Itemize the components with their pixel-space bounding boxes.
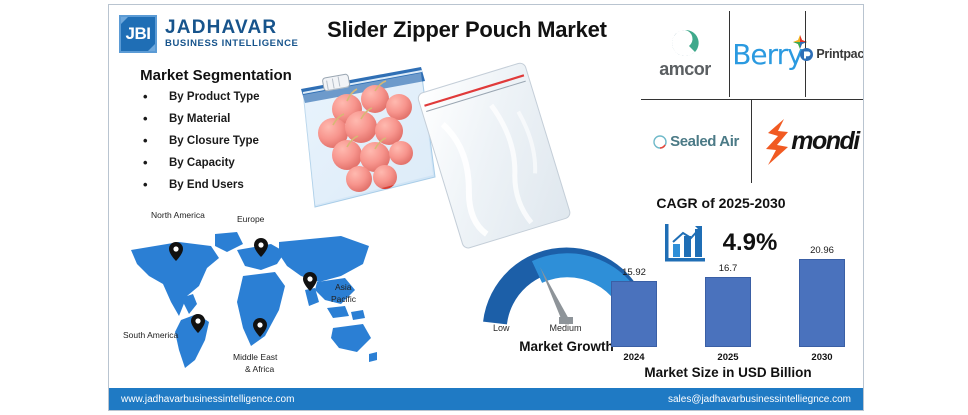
- map-pin-middle-east-africa-icon: [253, 318, 267, 337]
- bar-rect: [611, 281, 657, 347]
- printpack-label: Printpack: [816, 47, 864, 61]
- logo-sealed-air: Sealed Air: [641, 99, 751, 183]
- page-title: Slider Zipper Pouch Market: [307, 17, 627, 43]
- gauge-label-medium: Medium: [549, 323, 581, 333]
- gauge-label-low: Low: [493, 323, 510, 333]
- list-item: By Closure Type: [143, 135, 311, 147]
- map-label-middle-east-africa-line1: Middle East: [233, 352, 277, 362]
- jbi-logo-text: JBI: [126, 24, 151, 44]
- bar-column-2030: 20.96 2030: [799, 245, 845, 363]
- bar-rect: [799, 259, 845, 347]
- bar-value-label: 16.7: [705, 263, 751, 274]
- bar-category-label: 2024: [611, 352, 657, 363]
- bar-value-label: 20.96: [799, 245, 845, 256]
- list-item: By Capacity: [143, 157, 311, 169]
- map-label-europe: Europe: [237, 214, 264, 224]
- map-pin-asia-pacific-icon: [303, 272, 317, 291]
- brand-logo: JBI JADHAVAR BUSINESS INTELLIGENCE: [119, 15, 298, 53]
- map-pin-north-america-icon: [169, 242, 183, 261]
- bar-category-label: 2025: [705, 352, 751, 363]
- jbi-logo-mark: JBI: [119, 15, 157, 53]
- mondi-label: mondi: [791, 127, 859, 156]
- segmentation-title: Market Segmentation: [121, 67, 311, 84]
- segmentation-list: By Product Type By Material By Closure T…: [121, 91, 311, 191]
- market-segmentation-block: Market Segmentation By Product Type By M…: [121, 67, 311, 201]
- market-size-bar-chart: 15.92 2024 16.7 2025 20.96 2030: [595, 241, 861, 363]
- map-label-asia-pacific-line1: Asia: [335, 282, 352, 292]
- list-item: By End Users: [143, 179, 311, 191]
- logo-berry: Berry: [729, 11, 805, 97]
- amcor-icon: [668, 28, 702, 58]
- list-item: By Material: [143, 113, 311, 125]
- map-label-north-america: North America: [151, 210, 205, 220]
- brand-tagline: BUSINESS INTELLIGENCE: [165, 37, 298, 50]
- regional-map: North America Europe Asia Pacific South …: [119, 210, 399, 385]
- footer-email[interactable]: sales@jadhavarbusinessintelliegnce.com: [668, 394, 851, 405]
- footer-bar: www.jadhavarbusinessintelligence.com sal…: [109, 388, 863, 410]
- bar-category-label: 2030: [799, 352, 845, 363]
- clear-zip-pouch-image: [414, 60, 579, 250]
- company-logo-grid: amcor Berry Printpack: [641, 5, 864, 183]
- logo-printpack: Printpack: [805, 11, 864, 97]
- chart-axis-title: Market Size in USD Billion: [595, 365, 861, 380]
- list-item: By Product Type: [143, 91, 311, 103]
- bar-rect: [705, 277, 751, 347]
- map-pin-south-america-icon: [191, 314, 205, 333]
- map-pin-europe-icon: [254, 238, 268, 257]
- bar-column-2024: 15.92 2024: [611, 267, 657, 363]
- map-label-middle-east-africa-line2: & Africa: [245, 364, 274, 374]
- map-label-asia-pacific-line2: Pacific: [331, 294, 356, 304]
- mondi-flame-icon: [764, 119, 790, 165]
- infographic-canvas: JBI JADHAVAR BUSINESS INTELLIGENCE Slide…: [108, 4, 864, 411]
- footer-website[interactable]: www.jadhavarbusinessintelligence.com: [121, 394, 294, 405]
- sealed-air-icon: [653, 135, 667, 149]
- brand-name: JADHAVAR: [165, 18, 298, 37]
- printpack-icon: [800, 48, 813, 61]
- bar-column-2025: 16.7 2025: [705, 263, 751, 363]
- map-label-south-america: South America: [123, 330, 178, 340]
- logo-mondi: mondi: [751, 99, 864, 183]
- bar-value-label: 15.92: [611, 267, 657, 278]
- logo-amcor: amcor: [641, 11, 729, 97]
- cagr-title: CAGR of 2025-2030: [601, 195, 841, 211]
- amcor-label: amcor: [659, 59, 711, 80]
- sealed-air-label: Sealed Air: [670, 133, 739, 150]
